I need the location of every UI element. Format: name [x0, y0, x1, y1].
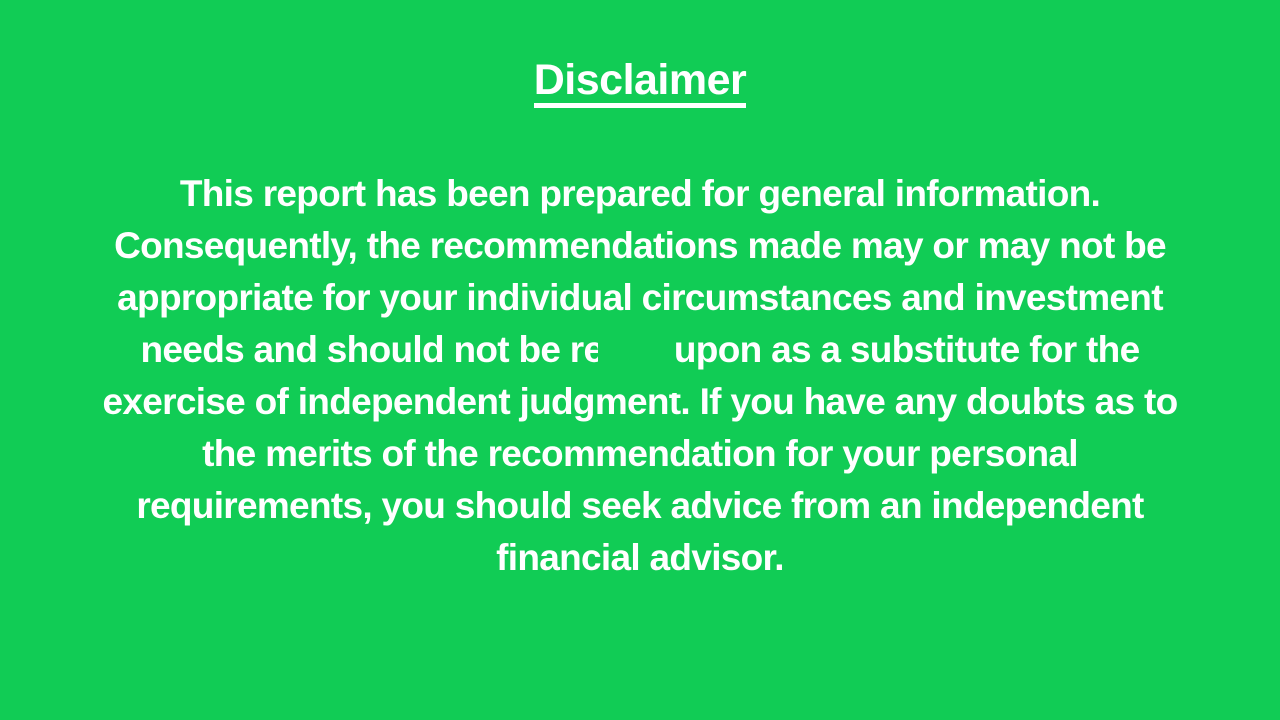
body-line: Consequently, the recommendations made m… — [0, 220, 1280, 272]
body-line: appropriate for your individual circumst… — [0, 272, 1280, 324]
body-line: exercise of independent judgment. If you… — [0, 376, 1280, 428]
title-container: Disclaimer — [0, 58, 1280, 108]
disclaimer-slide: Disclaimer This report has been prepared… — [0, 0, 1280, 720]
body-line: the merits of the recommendation for you… — [0, 428, 1280, 480]
body-line: financial advisor. — [0, 532, 1280, 584]
body-line: This report has been prepared for genera… — [0, 168, 1280, 220]
page-title: Disclaimer — [534, 58, 747, 108]
body-line: needs and should not be relied upon as a… — [0, 324, 1280, 376]
disclaimer-body: This report has been prepared for genera… — [0, 168, 1280, 584]
body-line: requirements, you should seek advice fro… — [0, 480, 1280, 532]
